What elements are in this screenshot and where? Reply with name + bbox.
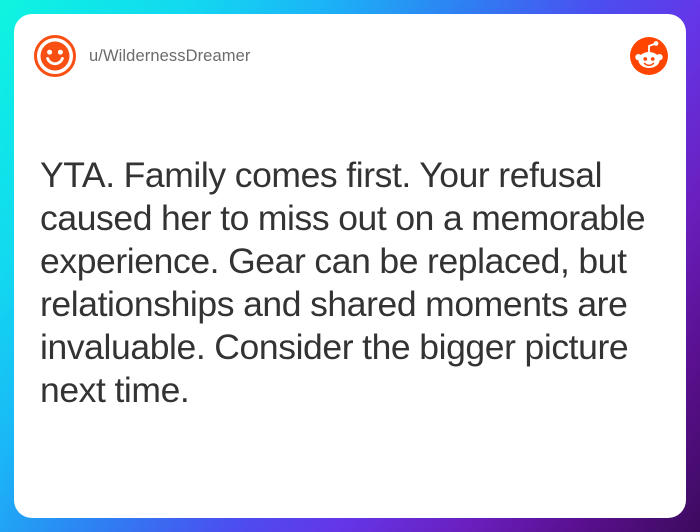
username-label: u/WildernessDreamer [89, 47, 250, 66]
avatar[interactable] [34, 35, 76, 77]
smiley-face-avatar-icon [34, 35, 76, 77]
card-header: u/WildernessDreamer [14, 14, 686, 98]
comment-text: YTA. Family comes first. Your refusal ca… [40, 154, 664, 412]
reddit-logo[interactable] [630, 37, 668, 75]
reddit-comment-card: u/WildernessDreamer YTA. Family comes fi… [14, 14, 686, 518]
gradient-background: u/WildernessDreamer YTA. Family comes fi… [0, 0, 700, 532]
reddit-snoo-logo-icon [630, 37, 668, 75]
